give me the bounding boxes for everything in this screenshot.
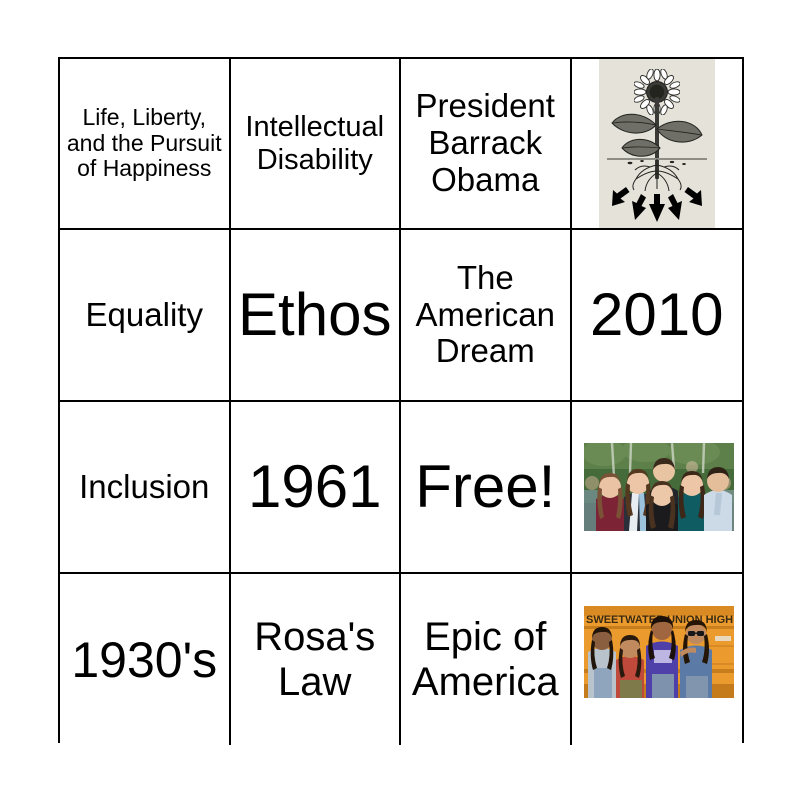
bingo-cell-r4c4[interactable]: SWEETWATER UNION HIGH S <box>572 574 743 745</box>
bingo-cell-label: Life, Liberty, and the Pursuit of Happin… <box>60 105 229 182</box>
bingo-cell-label: Ethos <box>231 281 400 348</box>
bingo-cell-r1c1[interactable]: Life, Liberty, and the Pursuit of Happin… <box>60 59 231 230</box>
bingo-cell-label: President Barrack Obama <box>401 88 570 199</box>
students-school-bus-photo-image: SWEETWATER UNION HIGH S <box>584 606 734 698</box>
bingo-cell-r3c1[interactable]: Inclusion <box>60 402 231 574</box>
bingo-cell-label: 1961 <box>231 453 400 520</box>
bingo-cell-r3c2[interactable]: 1961 <box>231 402 402 574</box>
bingo-cell-r3c3[interactable]: Free! <box>401 402 572 574</box>
bingo-cell-label: The American Dream <box>401 260 570 371</box>
bingo-cell-r3c4[interactable] <box>572 402 743 574</box>
bingo-cell-r1c4[interactable] <box>572 59 743 230</box>
bingo-cell-label: Inclusion <box>60 469 229 506</box>
bingo-cell-r4c2[interactable]: Rosa's Law <box>231 574 402 745</box>
bingo-cell-r4c3[interactable]: Epic of America <box>401 574 572 745</box>
bingo-cell-label: Equality <box>60 297 229 334</box>
bingo-cell-r2c3[interactable]: The American Dream <box>401 230 572 402</box>
bingo-cell-r1c2[interactable]: Intellectual Disability <box>231 59 402 230</box>
sunflower-leaf-right-icon <box>655 117 703 149</box>
school-bus-photo-art: SWEETWATER UNION HIGH S <box>584 606 734 698</box>
bingo-cell-r4c1[interactable]: 1930's <box>60 574 231 745</box>
bingo-cell-r2c2[interactable]: Ethos <box>231 230 402 402</box>
bingo-cell-r2c4[interactable]: 2010 <box>572 230 743 402</box>
bingo-cell-r2c1[interactable]: Equality <box>60 230 231 402</box>
family-graduation-photo-image <box>584 443 734 531</box>
bingo-grid: Life, Liberty, and the Pursuit of Happin… <box>58 57 744 743</box>
bingo-cell-label: 1930's <box>60 632 229 688</box>
bingo-cell-label: Intellectual Disability <box>231 111 400 176</box>
family-photo-art <box>584 443 734 531</box>
bingo-cell-r1c3[interactable]: President Barrack Obama <box>401 59 572 230</box>
bingo-cell-label: Epic of America <box>401 615 570 705</box>
bingo-cell-label: Free! <box>401 453 570 520</box>
sunflower-roots-nutrients-diagram-image <box>599 59 715 228</box>
bingo-cell-label: Rosa's Law <box>231 615 400 705</box>
nutrient-arrows-icon <box>599 170 715 224</box>
bingo-card-wrapper: Life, Liberty, and the Pursuit of Happin… <box>0 0 800 800</box>
bingo-cell-label: 2010 <box>572 281 743 348</box>
